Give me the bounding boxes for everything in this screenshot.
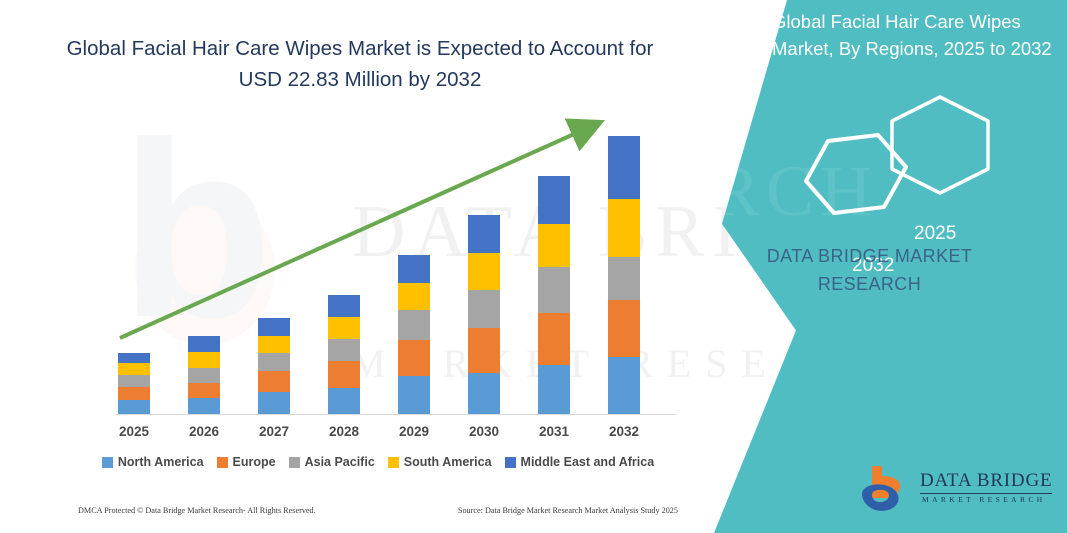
chart-legend: North AmericaEuropeAsia PacificSouth Ame…: [78, 455, 678, 469]
legend-item[interactable]: Middle East and Africa: [505, 455, 655, 469]
panel-title: Global Facial Hair Care Wipes Market, By…: [772, 8, 1062, 62]
x-axis-label-2025: 2025: [104, 424, 164, 439]
bar-column-2028: [328, 295, 360, 414]
footer-copyright: DMCA Protected © Data Bridge Market Rese…: [78, 506, 316, 515]
bar-segment: [538, 176, 570, 224]
bar-column-2032: [608, 136, 640, 414]
bar-segment: [608, 136, 640, 199]
bar-segment: [118, 353, 150, 363]
bar-segment: [118, 400, 150, 414]
bar-group: [78, 110, 678, 414]
bar-segment: [398, 376, 430, 414]
bar-segment: [118, 375, 150, 387]
legend-item[interactable]: North America: [102, 455, 204, 469]
bar-segment: [608, 257, 640, 300]
x-axis-label-2026: 2026: [174, 424, 234, 439]
bar-column-2027: [258, 318, 290, 414]
bar-segment: [538, 365, 570, 414]
bar-segment: [188, 336, 220, 352]
hexagon-group: 2025 2032: [672, 95, 1067, 225]
panel-content: RCH Global Facial Hair Care Wipes Market…: [672, 0, 1067, 533]
x-axis-label-2030: 2030: [454, 424, 514, 439]
bar-segment: [258, 318, 290, 336]
panel-brand-line1: DATA BRIDGE MARKET: [767, 246, 973, 266]
bar-segment: [188, 352, 220, 368]
bar-segment: [328, 317, 360, 339]
legend-label: Middle East and Africa: [521, 455, 655, 469]
bar-segment: [118, 363, 150, 375]
bar-column-2029: [398, 255, 430, 414]
legend-label: North America: [118, 455, 204, 469]
bar-segment: [398, 340, 430, 376]
legend-swatch-icon: [217, 457, 228, 468]
bar-segment: [258, 371, 290, 392]
stacked-bar-chart: [78, 110, 678, 418]
bar-segment: [398, 255, 430, 283]
bar-segment: [328, 295, 360, 317]
legend-item[interactable]: Asia Pacific: [289, 455, 375, 469]
bar-segment: [258, 336, 290, 353]
legend-swatch-icon: [289, 457, 300, 468]
bar-segment: [468, 253, 500, 290]
bar-segment: [468, 215, 500, 253]
legend-swatch-icon: [102, 457, 113, 468]
x-axis-label-2027: 2027: [244, 424, 304, 439]
legend-item[interactable]: South America: [388, 455, 492, 469]
hexagon-2025: [892, 97, 988, 193]
bar-segment: [538, 224, 570, 267]
bar-segment: [608, 300, 640, 357]
bar-segment: [328, 361, 360, 388]
bar-segment: [538, 313, 570, 365]
bar-segment: [188, 368, 220, 383]
page-title: Global Facial Hair Care Wipes Market is …: [60, 33, 660, 95]
infographic-root: b DATA BRIDGE MARKET RESEARCH Global Fac…: [0, 0, 1067, 533]
bar-segment: [608, 199, 640, 257]
bar-segment: [188, 398, 220, 414]
x-axis-line: [116, 414, 676, 415]
x-axis-labels: 20252026202720282029203020312032: [78, 424, 678, 444]
bar-segment: [398, 283, 430, 310]
bar-segment: [468, 373, 500, 414]
bar-column-2026: [188, 336, 220, 414]
bar-column-2031: [538, 176, 570, 414]
footer-source: Source: Data Bridge Market Research Mark…: [458, 506, 678, 515]
x-axis-label-2031: 2031: [524, 424, 584, 439]
legend-swatch-icon: [505, 457, 516, 468]
bar-segment: [328, 339, 360, 361]
legend-label: Asia Pacific: [305, 455, 375, 469]
bar-column-2030: [468, 215, 500, 414]
bar-segment: [118, 387, 150, 400]
logo-title: DATA BRIDGE: [920, 470, 1052, 494]
x-axis-label-2032: 2032: [594, 424, 654, 439]
right-panel: RCH Global Facial Hair Care Wipes Market…: [672, 0, 1067, 533]
logo-subtitle: MARKET RESEARCH: [922, 495, 1046, 504]
bar-segment: [468, 328, 500, 373]
bar-segment: [258, 392, 290, 414]
x-axis-label-2029: 2029: [384, 424, 444, 439]
legend-item[interactable]: Europe: [217, 455, 276, 469]
bar-column-2025: [118, 353, 150, 414]
bar-segment: [328, 388, 360, 414]
bar-segment: [398, 310, 430, 340]
bar-segment: [468, 290, 500, 328]
data-bridge-logo: DATA BRIDGE MARKET RESEARCH: [858, 462, 1058, 518]
bar-segment: [608, 357, 640, 414]
footer: DMCA Protected © Data Bridge Market Rese…: [78, 506, 678, 515]
legend-swatch-icon: [388, 457, 399, 468]
panel-brand-line2: RESEARCH: [672, 270, 1067, 298]
legend-label: South America: [404, 455, 492, 469]
panel-brand-text: DATA BRIDGE MARKET RESEARCH: [672, 242, 1067, 298]
x-axis-label-2028: 2028: [314, 424, 374, 439]
bar-segment: [538, 267, 570, 313]
bar-segment: [188, 383, 220, 398]
legend-label: Europe: [233, 455, 276, 469]
bar-segment: [258, 353, 290, 371]
